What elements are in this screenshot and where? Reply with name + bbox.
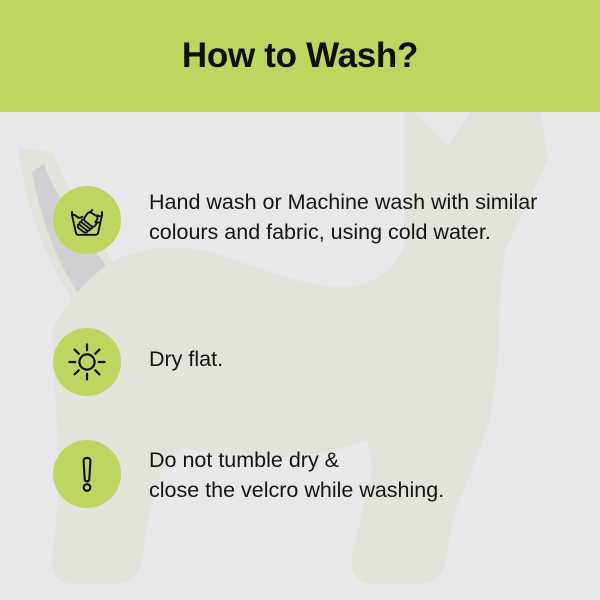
instruction-text: Hand wash or Machine wash with similar c… xyxy=(149,187,560,247)
how-to-wash-card: How to Wash? xyxy=(0,0,600,600)
instruction-text: Do not tumble dry & close the velcro whi… xyxy=(149,445,560,505)
instruction-row: Dry flat. xyxy=(0,325,600,396)
instruction-row: Hand wash or Machine wash with similar c… xyxy=(0,186,600,254)
hand-wash-icon-badge xyxy=(53,186,121,254)
hand-wash-icon xyxy=(65,198,109,242)
instruction-row: Do not tumble dry & close the velcro whi… xyxy=(0,438,600,508)
warning-exclamation-icon xyxy=(65,452,109,496)
warning-exclamation-icon-badge xyxy=(53,440,121,508)
page-title: How to Wash? xyxy=(0,0,600,112)
sun-dry-flat-icon xyxy=(65,340,109,384)
sun-dry-flat-icon-badge xyxy=(53,328,121,396)
instruction-text: Dry flat. xyxy=(149,344,560,374)
